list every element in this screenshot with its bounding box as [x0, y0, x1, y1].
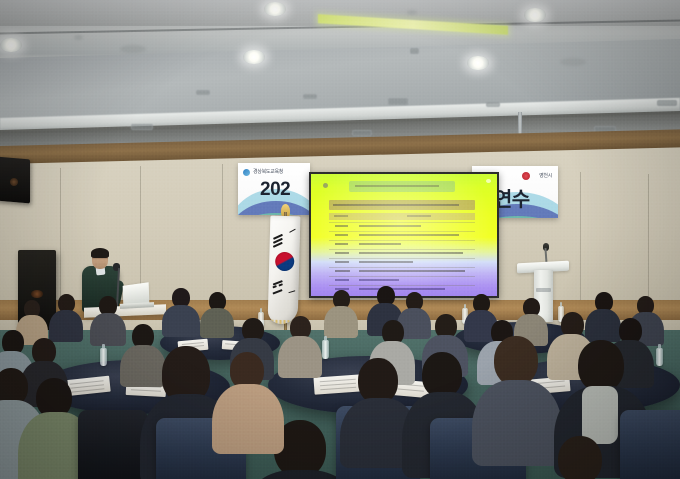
slide-title-text — [355, 185, 439, 187]
ceiling-mark — [560, 58, 586, 66]
wall-panel-seam — [648, 174, 649, 300]
slide-row-label — [335, 243, 348, 245]
trigram-bar — [272, 285, 276, 288]
slide-row-sep — [329, 222, 475, 223]
presenter-hair — [91, 248, 109, 258]
trigram-bar — [272, 289, 282, 294]
banner-right-logo-text: 영천시 — [539, 172, 552, 179]
taegukgi-flag — [268, 216, 301, 325]
attendee-head — [558, 436, 602, 479]
slide-row-label — [335, 225, 348, 227]
attendee-torso — [49, 310, 83, 342]
attendee-torso — [585, 309, 621, 342]
slide-row-label — [335, 252, 349, 254]
slide-row-sep — [329, 276, 475, 277]
slide-row-sep — [329, 258, 475, 259]
slide-row-sep — [329, 231, 475, 232]
trigram-bar — [278, 283, 282, 286]
ceiling-vent — [657, 100, 677, 106]
attendee-torso — [212, 384, 284, 454]
projection-screen — [309, 172, 499, 298]
slide-th-division — [334, 215, 348, 217]
downlight — [467, 56, 489, 70]
loudspeaker-cone-icon — [31, 290, 43, 298]
wall-panel-seam — [140, 166, 141, 300]
wall-panel-seam — [60, 168, 61, 300]
conference-hall-photo: 경상북도교육청 202 영천시 무연수 — [0, 0, 680, 479]
podium-label-plate — [536, 288, 551, 292]
slide-content — [311, 174, 497, 296]
slide-bullet-icon — [323, 183, 328, 188]
ceiling-mark — [407, 10, 417, 15]
slide-row-label — [335, 261, 349, 263]
slide-row-sep — [329, 267, 475, 268]
banner-left: 경상북도교육청 202 — [238, 163, 310, 215]
taeguk-symbol-icon — [275, 252, 294, 271]
downlight — [243, 50, 265, 64]
wall-panel-seam — [580, 172, 581, 300]
attendee-torso — [120, 345, 166, 387]
attendee-head — [578, 340, 624, 392]
attendee-torso — [472, 380, 562, 466]
ceiling-vent — [388, 98, 408, 105]
ceiling-sprinkler — [410, 48, 419, 54]
ceiling-vent — [303, 94, 317, 99]
slide-row-sep — [329, 249, 475, 250]
attendee-torso — [200, 308, 234, 338]
banner-left-logo-text: 경상북도교육청 — [253, 168, 283, 175]
wall-panel-seam — [222, 164, 223, 300]
slide-row-sep — [329, 285, 475, 286]
hood-collar — [582, 386, 618, 444]
attendee-head — [494, 336, 538, 386]
attendee-torso — [278, 336, 322, 378]
chair — [78, 410, 148, 479]
slide-row-label — [335, 279, 349, 281]
water-bottle — [322, 340, 329, 359]
slide-corner-mark — [486, 179, 491, 183]
slide-row-label — [335, 234, 348, 236]
loudspeaker-cone-icon — [10, 178, 18, 186]
ceiling-mark — [74, 35, 83, 40]
slide-row-text — [359, 279, 399, 281]
downlight — [524, 8, 546, 22]
slide-row-label — [335, 270, 350, 272]
slide-row-text — [359, 252, 463, 254]
ceiling-vent — [131, 124, 153, 130]
chair — [620, 410, 680, 479]
slide-row-text — [359, 270, 465, 272]
slide-row-text — [359, 225, 421, 227]
downlight — [264, 2, 286, 16]
handout-paper — [313, 374, 362, 394]
slide-section-heading-text — [333, 204, 459, 206]
trigram-bar — [289, 229, 296, 233]
slide-row-text — [359, 261, 413, 263]
water-bottle — [656, 348, 663, 366]
banner-left-title: 202 — [260, 179, 290, 201]
attendee-torso — [162, 305, 200, 337]
ceiling-vent — [352, 130, 372, 136]
slide-row-text — [359, 243, 401, 245]
education-office-emblem-icon — [243, 169, 250, 176]
attendee-torso — [90, 313, 126, 346]
slide-row-text — [359, 288, 445, 290]
slide-row-text — [359, 234, 459, 236]
attendee-torso — [324, 306, 358, 338]
red-circle-emblem-icon — [522, 172, 530, 180]
ceiling-vent — [196, 90, 210, 95]
water-bottle — [100, 348, 107, 366]
downlight — [0, 38, 22, 52]
trigram-bar — [288, 290, 295, 293]
ceiling-vent — [486, 102, 500, 107]
slide-table-header-row — [329, 213, 475, 220]
slide-th-content — [407, 215, 431, 217]
slide-row-sep — [329, 240, 475, 241]
ceiling-mark — [120, 45, 146, 53]
